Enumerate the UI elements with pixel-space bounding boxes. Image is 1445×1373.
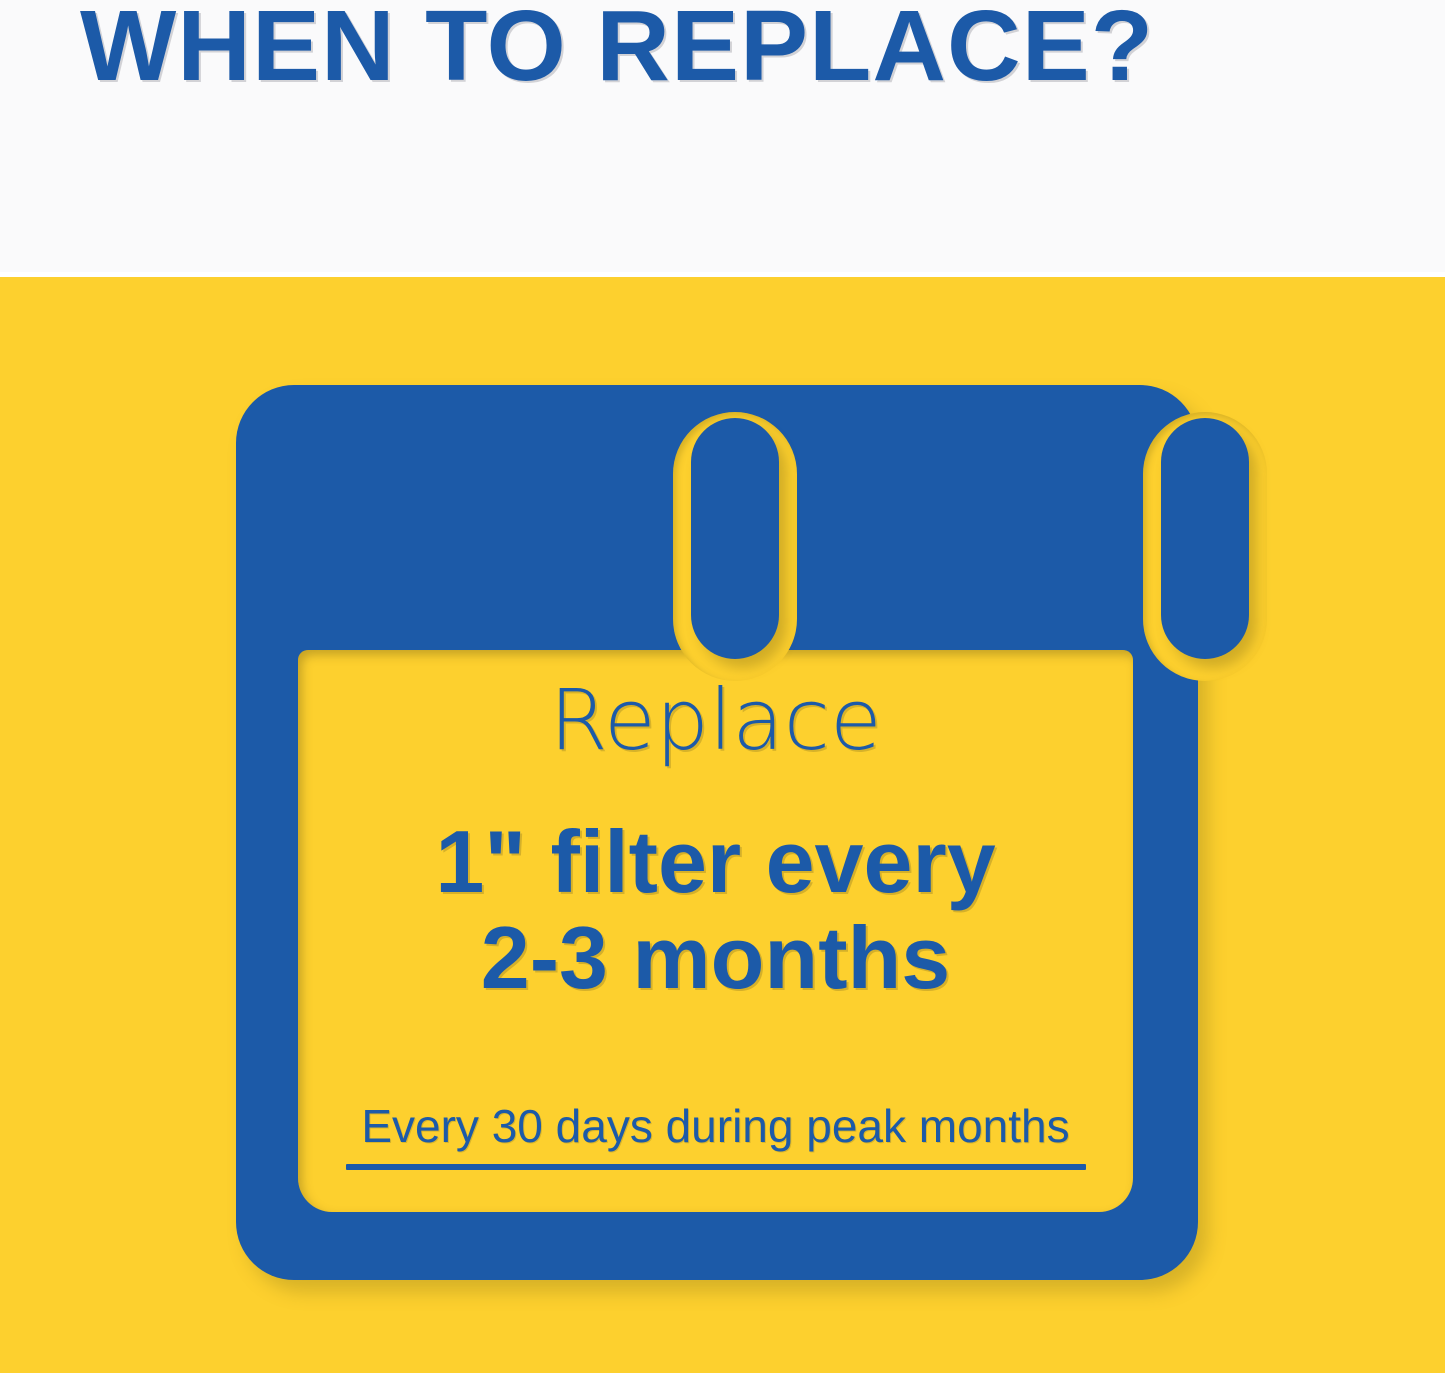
replacement-interval-headline: 1" filter every 2-3 months [435,814,995,1006]
calendar-window-content: Replace 1" filter every 2-3 months Every… [298,650,1133,1212]
page-title: WHEN TO REPLACE? [80,0,1154,96]
replacement-interval-line-2: 2-3 months [435,910,995,1006]
peak-months-caption: Every 30 days during peak months [361,1100,1069,1152]
yellow-stage: Replace 1" filter every 2-3 months Every… [0,277,1445,1373]
when-to-replace-poster: WHEN TO REPLACE? Replace 1" filter every… [0,0,1445,1373]
binder-ring-left [691,418,779,659]
caption-underline-rule [346,1164,1086,1170]
replacement-interval-line-1: 1" filter every [435,814,995,910]
header-band: WHEN TO REPLACE? [0,0,1445,277]
peak-months-caption-block: Every 30 days during peak months [298,1100,1133,1170]
replace-eyebrow-text: Replace [549,674,881,766]
calendar-icon: Replace 1" filter every 2-3 months Every… [236,385,1198,1280]
binder-ring-right [1161,418,1249,659]
calendar-window: Replace 1" filter every 2-3 months Every… [298,650,1133,1212]
